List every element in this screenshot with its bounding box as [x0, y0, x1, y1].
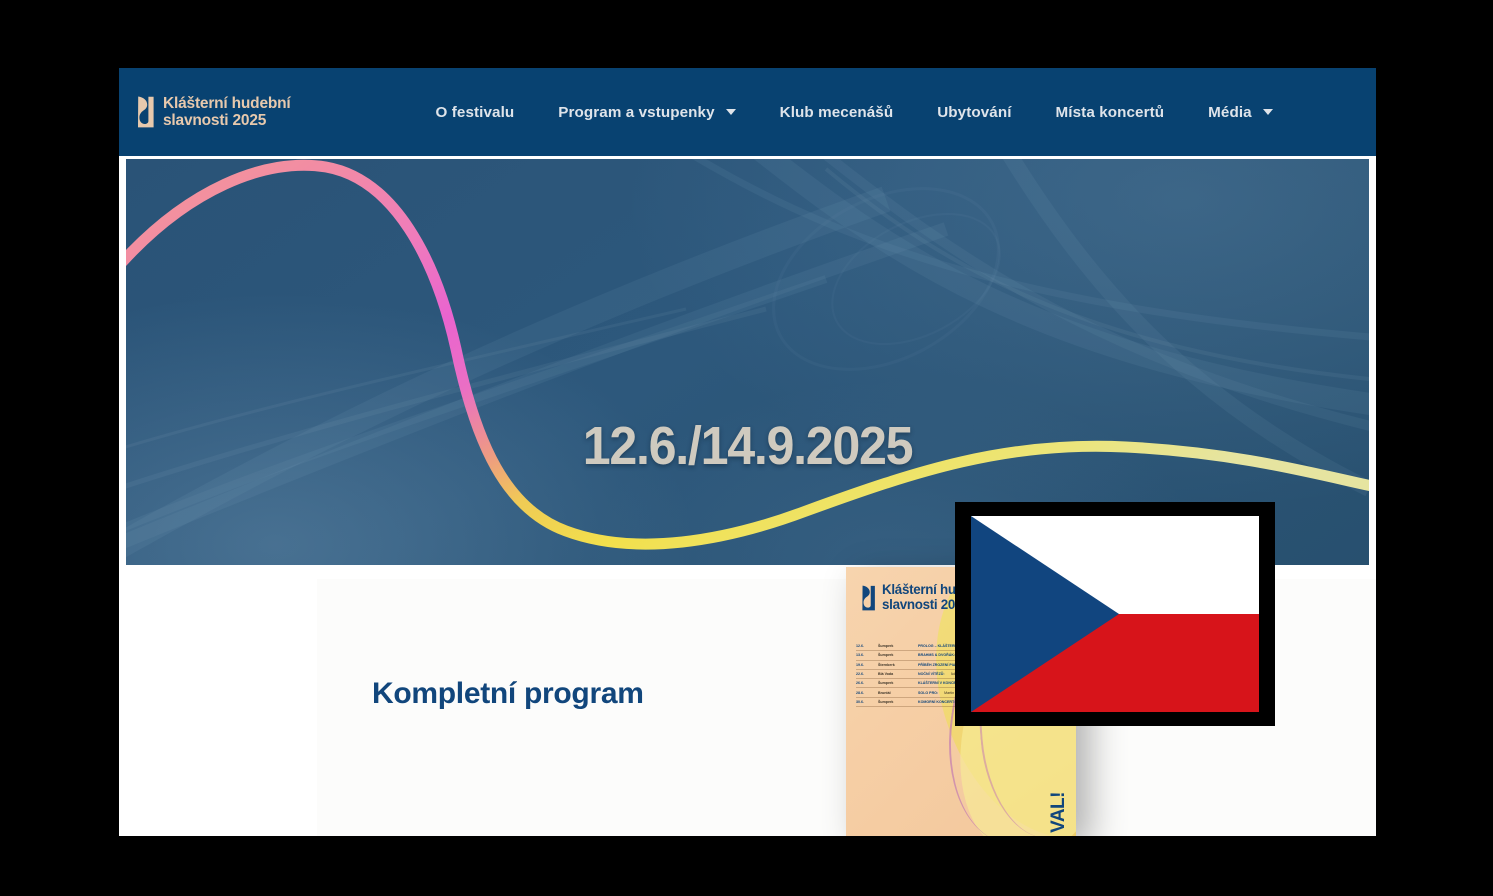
poster-row-title: KOMORNÍ KONCERT: [918, 700, 955, 704]
brand-line-2: slavnosti 2025 [163, 112, 291, 129]
poster-row-date: 12.6. [856, 644, 872, 648]
brand-logo[interactable]: Klášterní hudební slavnosti 2025 [135, 95, 291, 130]
poster-row-city: Šumperk [878, 700, 912, 704]
nav-item-ubytovani[interactable]: Ubytování [915, 104, 1033, 121]
nav-item-media[interactable]: Média [1186, 104, 1295, 121]
nav-item-o-festivalu[interactable]: O festivalu [436, 104, 537, 121]
nav-item-program-a-vstupenky[interactable]: Program a vstupenky [536, 104, 757, 121]
poster-row-date: 13.6. [856, 653, 872, 657]
brand-name: Klášterní hudební slavnosti 2025 [163, 95, 291, 130]
poster-row-date: 22.6. [856, 672, 872, 676]
nav-label: Místa koncertů [1056, 104, 1165, 121]
nav-label: Média [1208, 104, 1252, 121]
poster-row-date: 28.6. [856, 691, 872, 695]
site-header: Klášterní hudební slavnosti 2025 O festi… [119, 68, 1376, 156]
hero-date-text: 12.6./14.9.2025 [170, 415, 1326, 477]
poster-row-city: Bruntál [878, 691, 912, 695]
poster-row-date: 30.6. [856, 700, 872, 704]
poster-row-city: Blá Voda [878, 672, 912, 676]
nav-label: Ubytování [937, 104, 1011, 121]
nav-label: Program a vstupenky [558, 104, 714, 121]
poster-vertical-text: VAL! [1048, 792, 1070, 833]
festival-logo-mark-icon [860, 584, 876, 612]
brand-line-1: Klášterní hudební [163, 95, 291, 112]
poster-row-title: SOLO PRO: [918, 691, 938, 695]
poster-row-title: NOČNÍ VÍTĚZŮ: [918, 672, 945, 676]
flag-blue-triangle [971, 516, 1119, 712]
page-title: Kompletní program [372, 677, 644, 711]
poster-row-city: Šternberk [878, 663, 912, 667]
chevron-down-icon [1263, 109, 1273, 115]
poster-row-city: Šumperk [878, 653, 912, 657]
chevron-down-icon [726, 109, 736, 115]
nav-label: Klub mecenášů [780, 104, 894, 121]
poster-row-city: Šumperk [878, 644, 912, 648]
nav-item-klub-mecenasu[interactable]: Klub mecenášů [758, 104, 916, 121]
nav-label: O festivalu [436, 104, 515, 121]
nav-item-mista-koncertu[interactable]: Místa koncertů [1034, 104, 1187, 121]
poster-row-date: 19.6. [856, 663, 872, 667]
czech-republic-flag-overlay [955, 502, 1275, 726]
czech-republic-flag-icon [971, 516, 1259, 712]
poster-row-city: Šumperk [878, 681, 912, 685]
screen-root: Klášterní hudební slavnosti 2025 O festi… [0, 0, 1493, 896]
poster-row-title: PŘÍBĚH ZROZENÍ PIAN: [918, 663, 959, 667]
poster-row-title: BRAHMS & DVOŘÁK: [918, 653, 955, 657]
poster-row-date: 26.6. [856, 681, 872, 685]
festival-logo-mark-icon [135, 95, 155, 129]
main-navigation: O festivalu Program a vstupenky Klub mec… [436, 104, 1295, 121]
